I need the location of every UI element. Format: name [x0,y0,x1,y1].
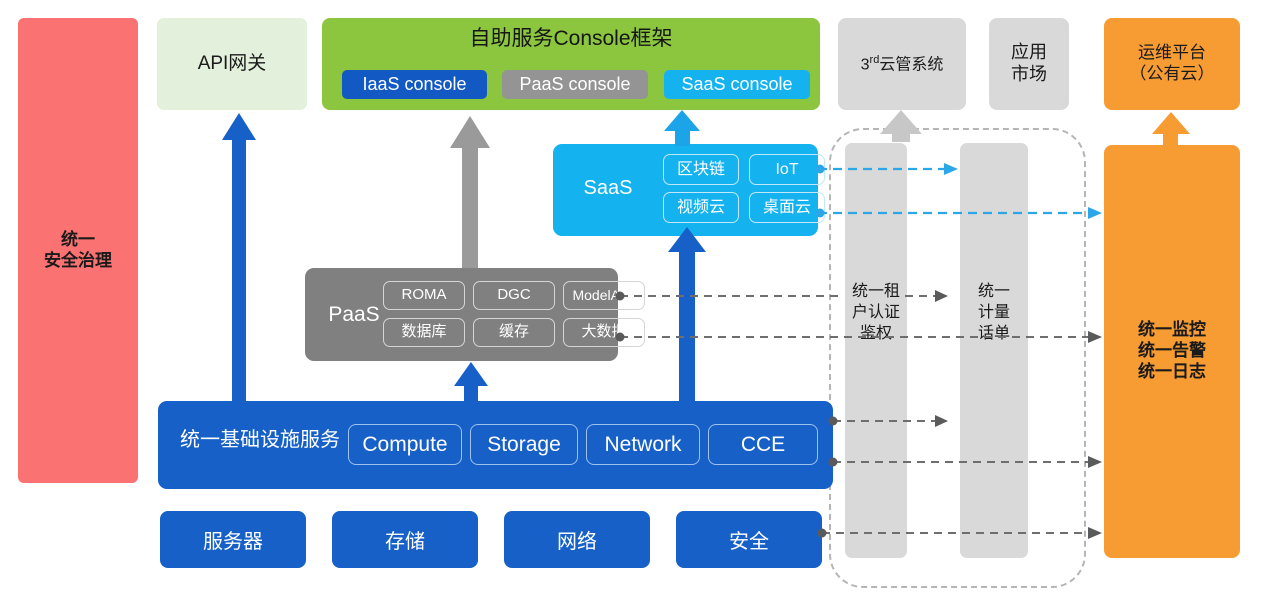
paas-chip-modelarts[interactable]: ModelArts [563,281,645,310]
infra-chip-cce[interactable]: CCE [708,424,818,465]
infra-chip-storage[interactable]: Storage [470,424,578,465]
paas-chip-bigdata-label: 大数据 [581,323,626,341]
third-party-cloud-management-label: 3rd云管系统 [861,54,944,75]
paas-chip-database-label: 数据库 [401,323,446,341]
saas-chip-video-cloud-label: 视频云 [677,198,725,218]
api-gateway-label: API网关 [198,52,267,75]
paas-chip-bigdata[interactable]: 大数据 [563,318,645,347]
paas-layer-label: PaaS [315,302,393,328]
paas-layer-box: PaaS ROMA DGC ModelArts 数据库 缓存 大数据 [305,268,618,361]
saas-layer-box: SaaS 区块链 IoT 视频云 桌面云 [553,144,818,236]
unified-infrastructure-box: 统一基础设施服务 Compute Storage Network CCE [158,401,833,489]
paas-chip-database[interactable]: 数据库 [383,318,465,347]
paas-chip-cache-label: 缓存 [499,323,529,341]
app-market-box: 应用 市场 [989,18,1069,110]
iaas-console-label: IaaS console [362,74,466,96]
saas-chip-desktop-cloud[interactable]: 桌面云 [749,192,825,223]
paas-chip-cache[interactable]: 缓存 [473,318,555,347]
hardware-box-network: 网络 [504,511,650,568]
arrowhead-infra-to-ops [1088,456,1102,468]
infra-chip-storage-label: Storage [487,432,561,458]
saas-chip-desktop-cloud-label: 桌面云 [763,198,811,218]
paas-chip-roma[interactable]: ROMA [383,281,465,310]
saas-layer-label: SaaS [565,176,651,200]
console-frame-title: 自助服务Console框架 [322,26,820,52]
arrow-saas-to-saas-console [664,110,700,146]
saas-chip-blockchain-label: 区块链 [677,160,725,180]
unified-security-governance-column: 统一 安全治理 [18,18,138,483]
unified-infrastructure-label: 统一基础设施服务 [172,428,348,452]
arrowhead-paas-to-ops [1088,331,1102,343]
metering-label: 统一 计量 话单 [958,282,1030,344]
unified-monitoring-label: 统一监控 统一告警 统一日志 [1138,320,1206,382]
arrow-ops-column-to-ops-platform [1152,112,1190,146]
unified-monitoring-column: 统一监控 统一告警 统一日志 [1104,145,1240,558]
arrow-infra-to-api-gateway [222,113,256,401]
paas-chip-roma-label: ROMA [402,286,447,304]
arrow-infra-to-paas [454,362,488,401]
paas-console-chip[interactable]: PaaS console [502,70,648,99]
paas-chip-modelarts-label: ModelArts [572,287,635,304]
hardware-box-security: 安全 [676,511,822,568]
infra-chip-cce-label: CCE [741,432,785,458]
api-gateway-box: API网关 [157,18,307,110]
ops-platform-label: 运维平台 （公有云） [1130,43,1215,84]
saas-console-chip[interactable]: SaaS console [664,70,810,99]
saas-chip-video-cloud[interactable]: 视频云 [663,192,739,223]
tenant-auth-label: 统一租 户认证 鉴权 [840,282,912,344]
iaas-console-chip[interactable]: IaaS console [342,70,487,99]
paas-chip-dgc-label: DGC [497,286,530,304]
infra-chip-compute-label: Compute [362,432,447,458]
unified-security-governance-label: 统一 安全治理 [44,230,112,271]
third-party-cloud-management-box: 3rd云管系统 [838,18,966,110]
paas-chip-dgc[interactable]: DGC [473,281,555,310]
arrow-infra-to-saas [668,227,706,402]
hardware-box-security-label: 安全 [729,525,769,554]
infra-chip-compute[interactable]: Compute [348,424,462,465]
diagram-canvas: 统一 安全治理 API网关 自助服务Console框架 IaaS console… [0,0,1265,605]
app-market-label: 应用 市场 [1011,42,1047,86]
saas-chip-iot[interactable]: IoT [749,154,825,185]
saas-console-label: SaaS console [681,74,792,96]
arrowhead-hardware-to-ops [1088,527,1102,539]
metering-column [960,143,1028,558]
infra-chip-network[interactable]: Network [586,424,700,465]
hardware-box-storage: 存储 [332,511,478,568]
hardware-box-network-label: 网络 [557,525,597,554]
saas-chip-iot-label: IoT [775,160,798,180]
arrowhead-saas-to-ops [1088,207,1102,219]
infra-chip-network-label: Network [604,432,681,458]
hardware-box-server: 服务器 [160,511,306,568]
hardware-box-server-label: 服务器 [203,525,263,554]
tenant-auth-column [845,143,907,558]
hardware-box-storage-label: 存储 [385,525,425,554]
self-service-console-frame: 自助服务Console框架 IaaS console PaaS console … [322,18,820,110]
saas-chip-blockchain[interactable]: 区块链 [663,154,739,185]
arrow-paas-to-console [450,116,490,268]
ops-platform-box: 运维平台 （公有云） [1104,18,1240,110]
paas-console-label: PaaS console [519,74,630,96]
